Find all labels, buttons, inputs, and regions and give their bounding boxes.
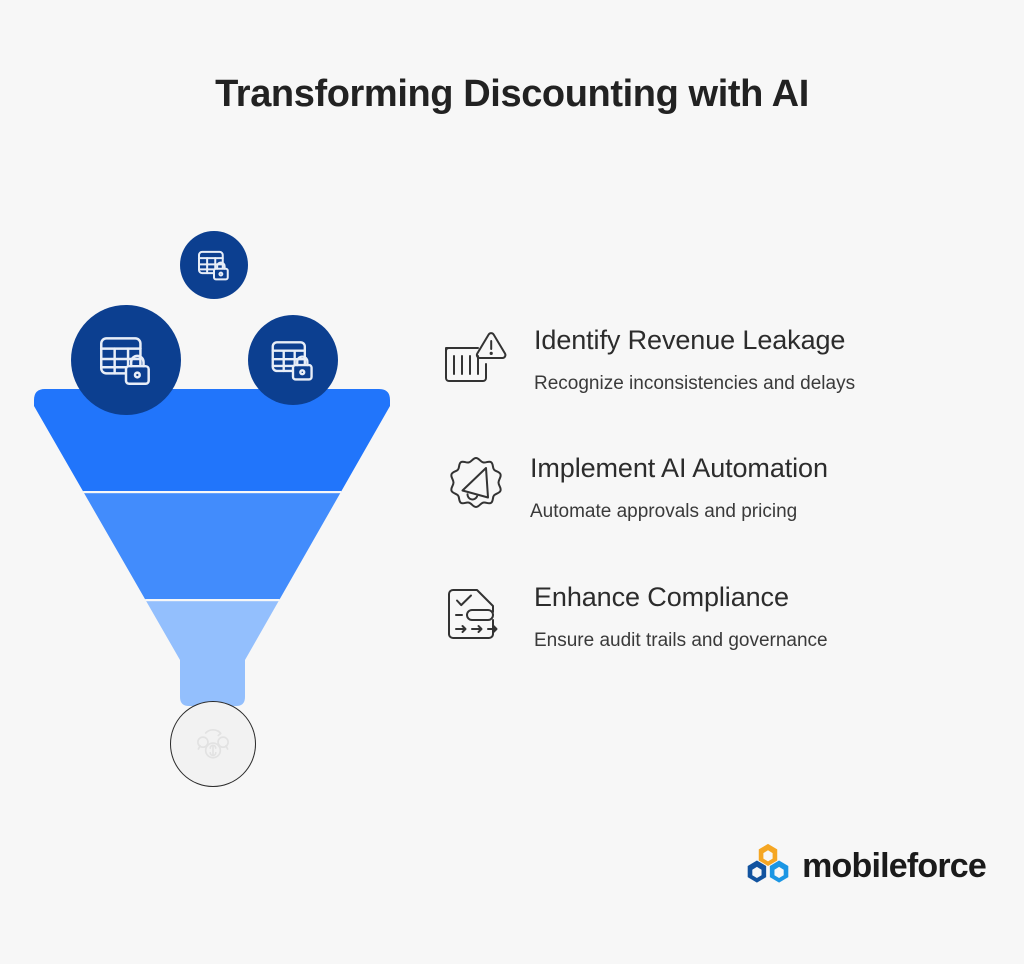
infographic-root: Transforming Discounting with AI: [0, 0, 1024, 964]
funnel-divider-1: [0, 491, 440, 493]
compliance-document-icon: [440, 581, 512, 653]
funnel-shape: [0, 0, 440, 964]
step-subtitle: Automate approvals and pricing: [530, 500, 828, 525]
funnel-band-middle-fill: [0, 493, 440, 600]
money-recycle-icon: [191, 722, 235, 766]
step-item: Identify Revenue Leakage Recognize incon…: [440, 320, 1000, 396]
funnel-band-top-fill: [0, 385, 440, 492]
table-lock-icon: [194, 245, 234, 285]
step-item: Enhance Compliance Ensure audit trails a…: [440, 577, 1000, 653]
funnel-divider-2: [0, 599, 440, 601]
source-circle-small: [180, 231, 248, 299]
brand-logo: mobileforce: [744, 842, 986, 890]
step-subtitle: Recognize inconsistencies and delays: [534, 372, 855, 397]
gear-megaphone-icon: [440, 452, 512, 524]
step-title: Implement AI Automation: [530, 452, 828, 486]
step-text-block: Enhance Compliance Ensure audit trails a…: [512, 577, 828, 653]
hexagon-trio-icon: [744, 842, 792, 890]
step-subtitle: Ensure audit trails and governance: [534, 629, 828, 654]
funnel-output-circle: [170, 701, 256, 787]
steps-list: Identify Revenue Leakage Recognize incon…: [440, 320, 1000, 705]
logo-wordmark: mobileforce: [802, 849, 986, 883]
funnel-diagram: [0, 0, 440, 964]
step-text-block: Implement AI Automation Automate approva…: [512, 448, 828, 524]
step-title: Enhance Compliance: [534, 581, 828, 615]
step-item: Implement AI Automation Automate approva…: [440, 448, 1000, 524]
step-text-block: Identify Revenue Leakage Recognize incon…: [512, 320, 855, 396]
source-circle-large: [71, 305, 181, 415]
source-circle-medium: [248, 315, 338, 405]
table-lock-icon: [266, 333, 320, 387]
step-title: Identify Revenue Leakage: [534, 324, 855, 358]
revenue-leakage-icon: [440, 324, 512, 396]
table-lock-icon: [93, 327, 159, 393]
